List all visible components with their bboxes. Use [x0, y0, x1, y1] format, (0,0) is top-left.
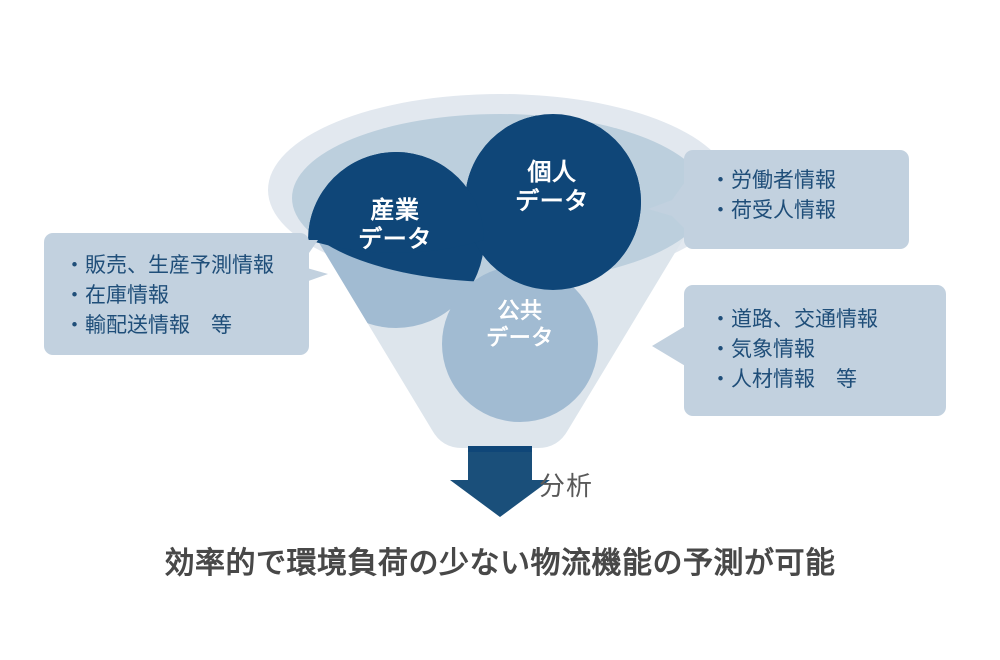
summary-caption: 効率的で環境負荷の少ない物流機能の予測が可能: [0, 538, 1000, 582]
circle-kojin: [465, 114, 641, 290]
callout-bottomright-text: ・道路、交通情報 ・気象情報 ・人材情報 等: [710, 305, 946, 394]
analysis-arrow: [450, 452, 550, 517]
callout-topright-text: ・労働者情報 ・荷受人情報: [710, 166, 909, 226]
callout-topright: ・労働者情報 ・荷受人情報: [684, 150, 909, 249]
analysis-arrow-label: 分析: [539, 466, 593, 503]
circle-kokyo-light: [442, 266, 598, 422]
diagram-canvas: 産業 データ 個人 データ 公共 データ ・販売、生産予測情報 ・在庫情報 ・輸…: [0, 0, 1000, 660]
callout-bottomright: ・道路、交通情報 ・気象情報 ・人材情報 等: [684, 285, 946, 416]
callout-left-text: ・販売、生産予測情報 ・在庫情報 ・輸配送情報 等: [64, 251, 309, 340]
callout-left: ・販売、生産予測情報 ・在庫情報 ・輸配送情報 等: [44, 233, 309, 355]
